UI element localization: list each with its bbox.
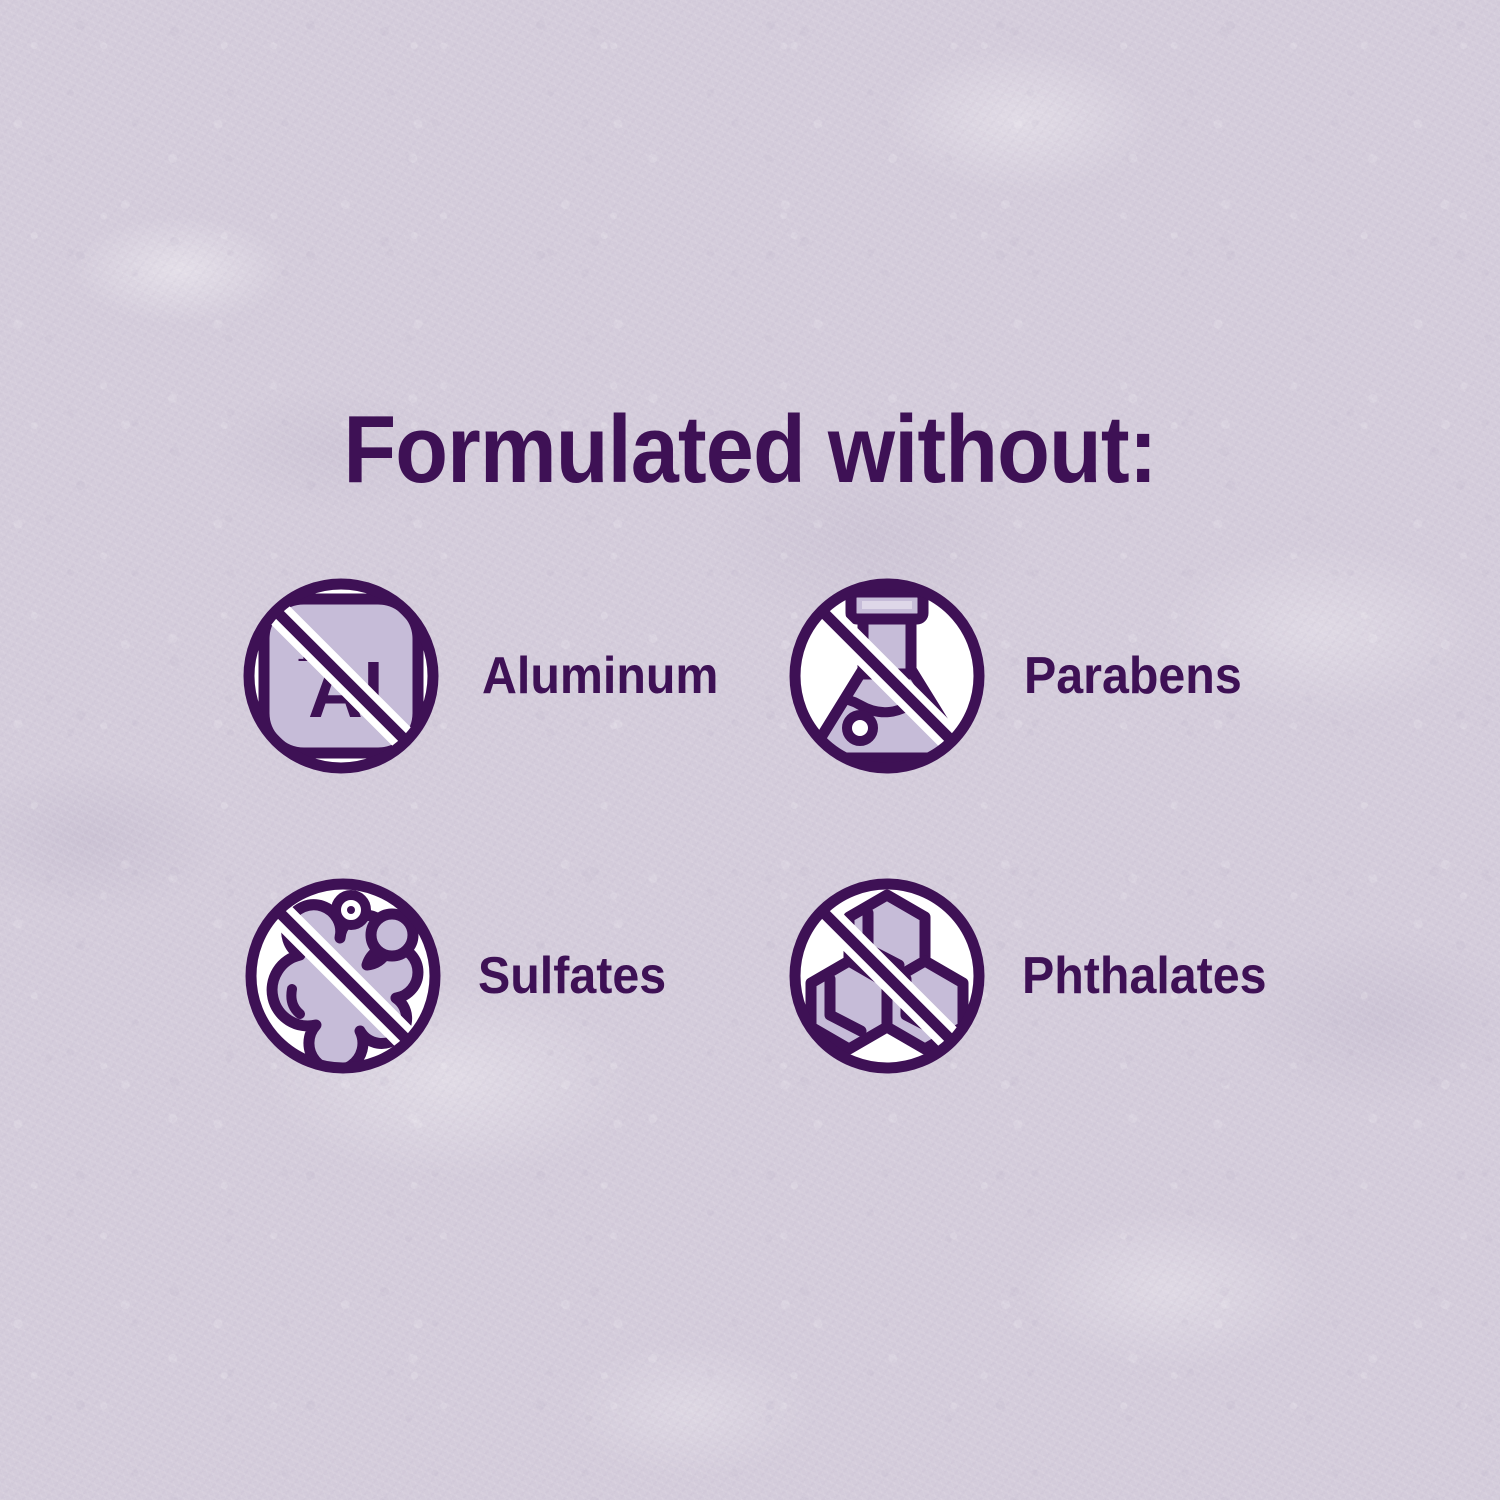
no-suds-icon (240, 865, 450, 1087)
claim-label-phthalates: Phthalates (1022, 948, 1267, 1004)
page-title: Formulated without: (75, 398, 1425, 502)
claim-label-aluminum: Aluminum (482, 648, 718, 704)
claim-label-sulfates: Sulfates (478, 948, 666, 1004)
claim-item-aluminum: 13 Al Aluminum (238, 565, 736, 787)
claim-item-parabens: Parabens (784, 565, 1258, 787)
formulated-without-panel: Formulated without: 13 Al Aluminum (0, 0, 1500, 1500)
no-hexagons-icon (784, 865, 994, 1087)
claim-label-parabens: Parabens (1024, 648, 1242, 704)
claims-grid: 13 Al Aluminum (238, 565, 1298, 1095)
claim-item-phthalates: Phthalates (784, 865, 1285, 1087)
no-flask-icon (784, 565, 994, 787)
claim-item-sulfates: Sulfates (240, 865, 680, 1087)
no-aluminum-icon: 13 Al (238, 565, 448, 787)
